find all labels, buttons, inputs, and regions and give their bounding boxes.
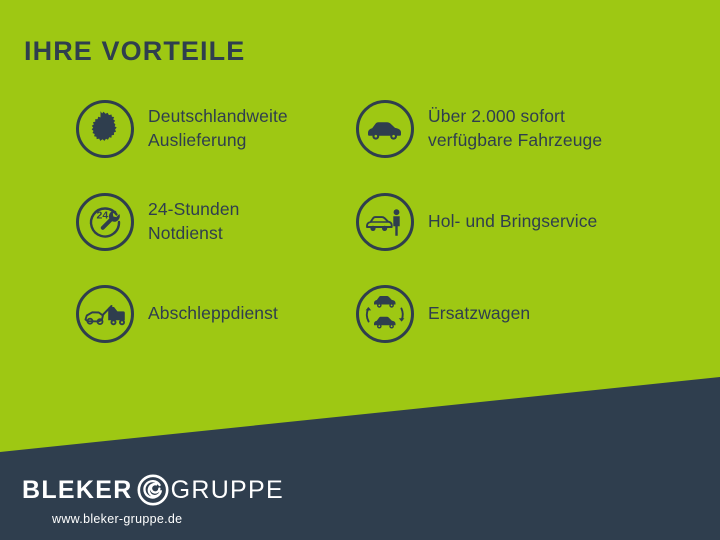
svg-text:24: 24 [97,210,109,222]
spiral-circle-icon [136,473,170,507]
benefit-label: Über 2.000 sofort verfügbare Fahrzeuge [428,105,602,153]
logo-secondary-text: GRUPPE [171,478,284,503]
benefit-item-hol-und-bringservice[interactable]: Hol- und Bringservice [356,193,597,251]
benefit-label: Abschleppdienst [148,302,278,326]
benefit-item-verfuegbare-fahrzeuge[interactable]: Über 2.000 sofort verfügbare Fahrzeuge [356,100,602,158]
benefit-item-24-stunden-notdienst[interactable]: 24 24-Stunden Notdienst [76,193,240,251]
benefit-label: Deutschlandweite Auslieferung [148,105,288,153]
car-icon [356,100,414,158]
page-title: IHRE VORTEILE [24,38,245,65]
benefit-label: Hol- und Bringservice [428,210,597,234]
benefit-item-ersatzwagen[interactable]: Ersatzwagen [356,285,530,343]
brand-logo[interactable]: BLEKER GRUPPE [22,473,282,507]
germany-map-icon [76,100,134,158]
benefit-item-deutschlandweite-auslieferung[interactable]: Deutschlandweite Auslieferung [76,100,288,158]
benefit-label: 24-Stunden Notdienst [148,198,240,246]
footer: BLEKER GRUPPE www.bleker-gruppe.de [22,473,282,526]
benefit-item-abschleppdienst[interactable]: Abschleppdienst [76,285,278,343]
clock-24-wrench-icon: 24 [76,193,134,251]
car-with-person-icon [356,193,414,251]
slide-root: IHRE VORTEILE Deutschlandweite Ausliefer… [0,0,720,540]
two-cars-exchange-icon [356,285,414,343]
website-url[interactable]: www.bleker-gruppe.de [52,512,282,526]
tow-truck-icon [76,285,134,343]
logo-primary-text: BLEKER [22,478,133,503]
benefit-label: Ersatzwagen [428,302,530,326]
